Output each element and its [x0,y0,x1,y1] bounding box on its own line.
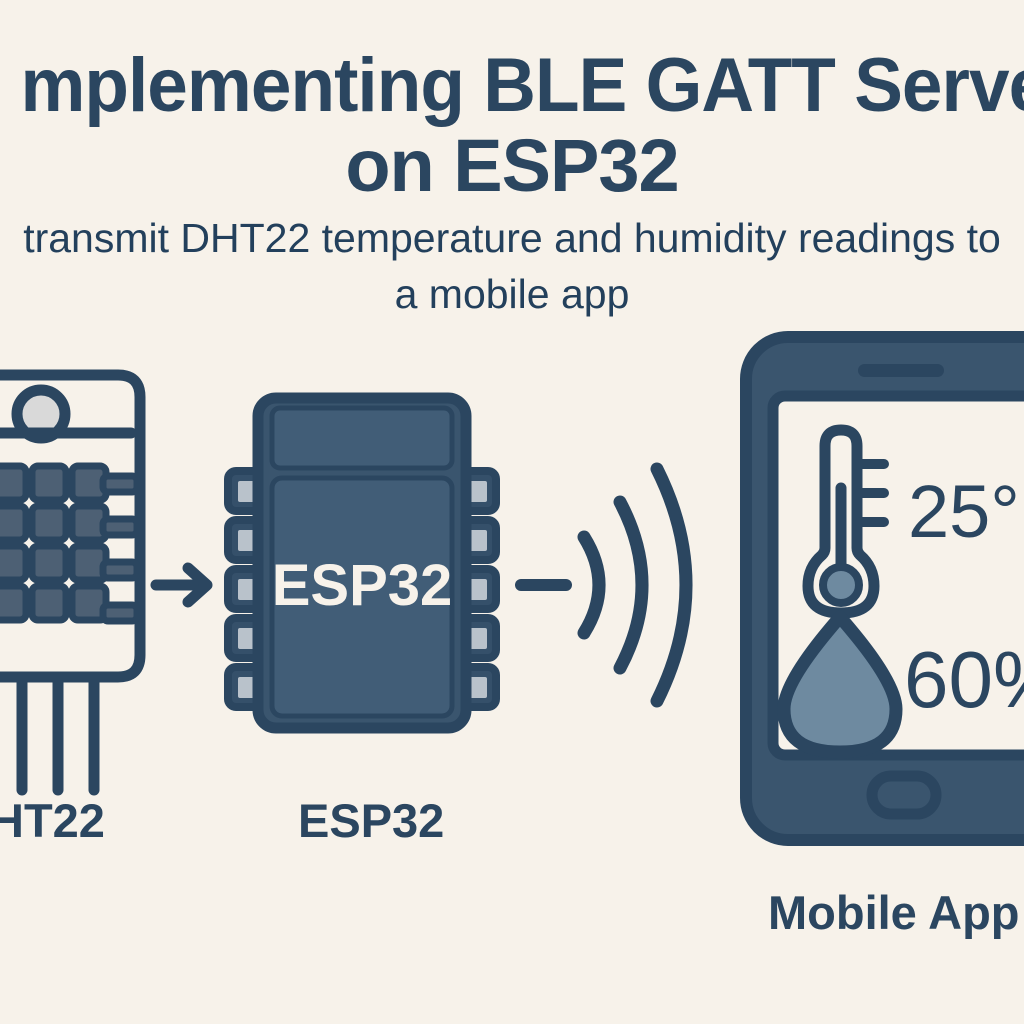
node-label-esp32: ESP32 [298,793,444,848]
chip-label: ESP32 [272,553,453,618]
phone-speaker-icon [858,364,944,377]
sensor-vent-grid [0,466,106,620]
dht22-sensor-icon [0,375,140,790]
humidity-reading: 60% [904,635,1024,724]
node-label-mobile-app: Mobile App [768,885,1020,940]
wireless-signal-icon [521,469,686,701]
arrow-right-icon [156,568,207,602]
smartphone-icon: 25° 60% [746,337,1024,840]
sensor-pins [22,677,94,790]
esp32-chip-icon: ESP32 [228,398,496,728]
illustration-canvas: mplementing BLE GATT Server on ESP32 tra… [0,0,1024,1024]
diagram-artwork: ESP32 [0,0,1024,1024]
temperature-reading: 25° [908,470,1020,553]
node-label-dht22: HT22 [0,793,105,848]
